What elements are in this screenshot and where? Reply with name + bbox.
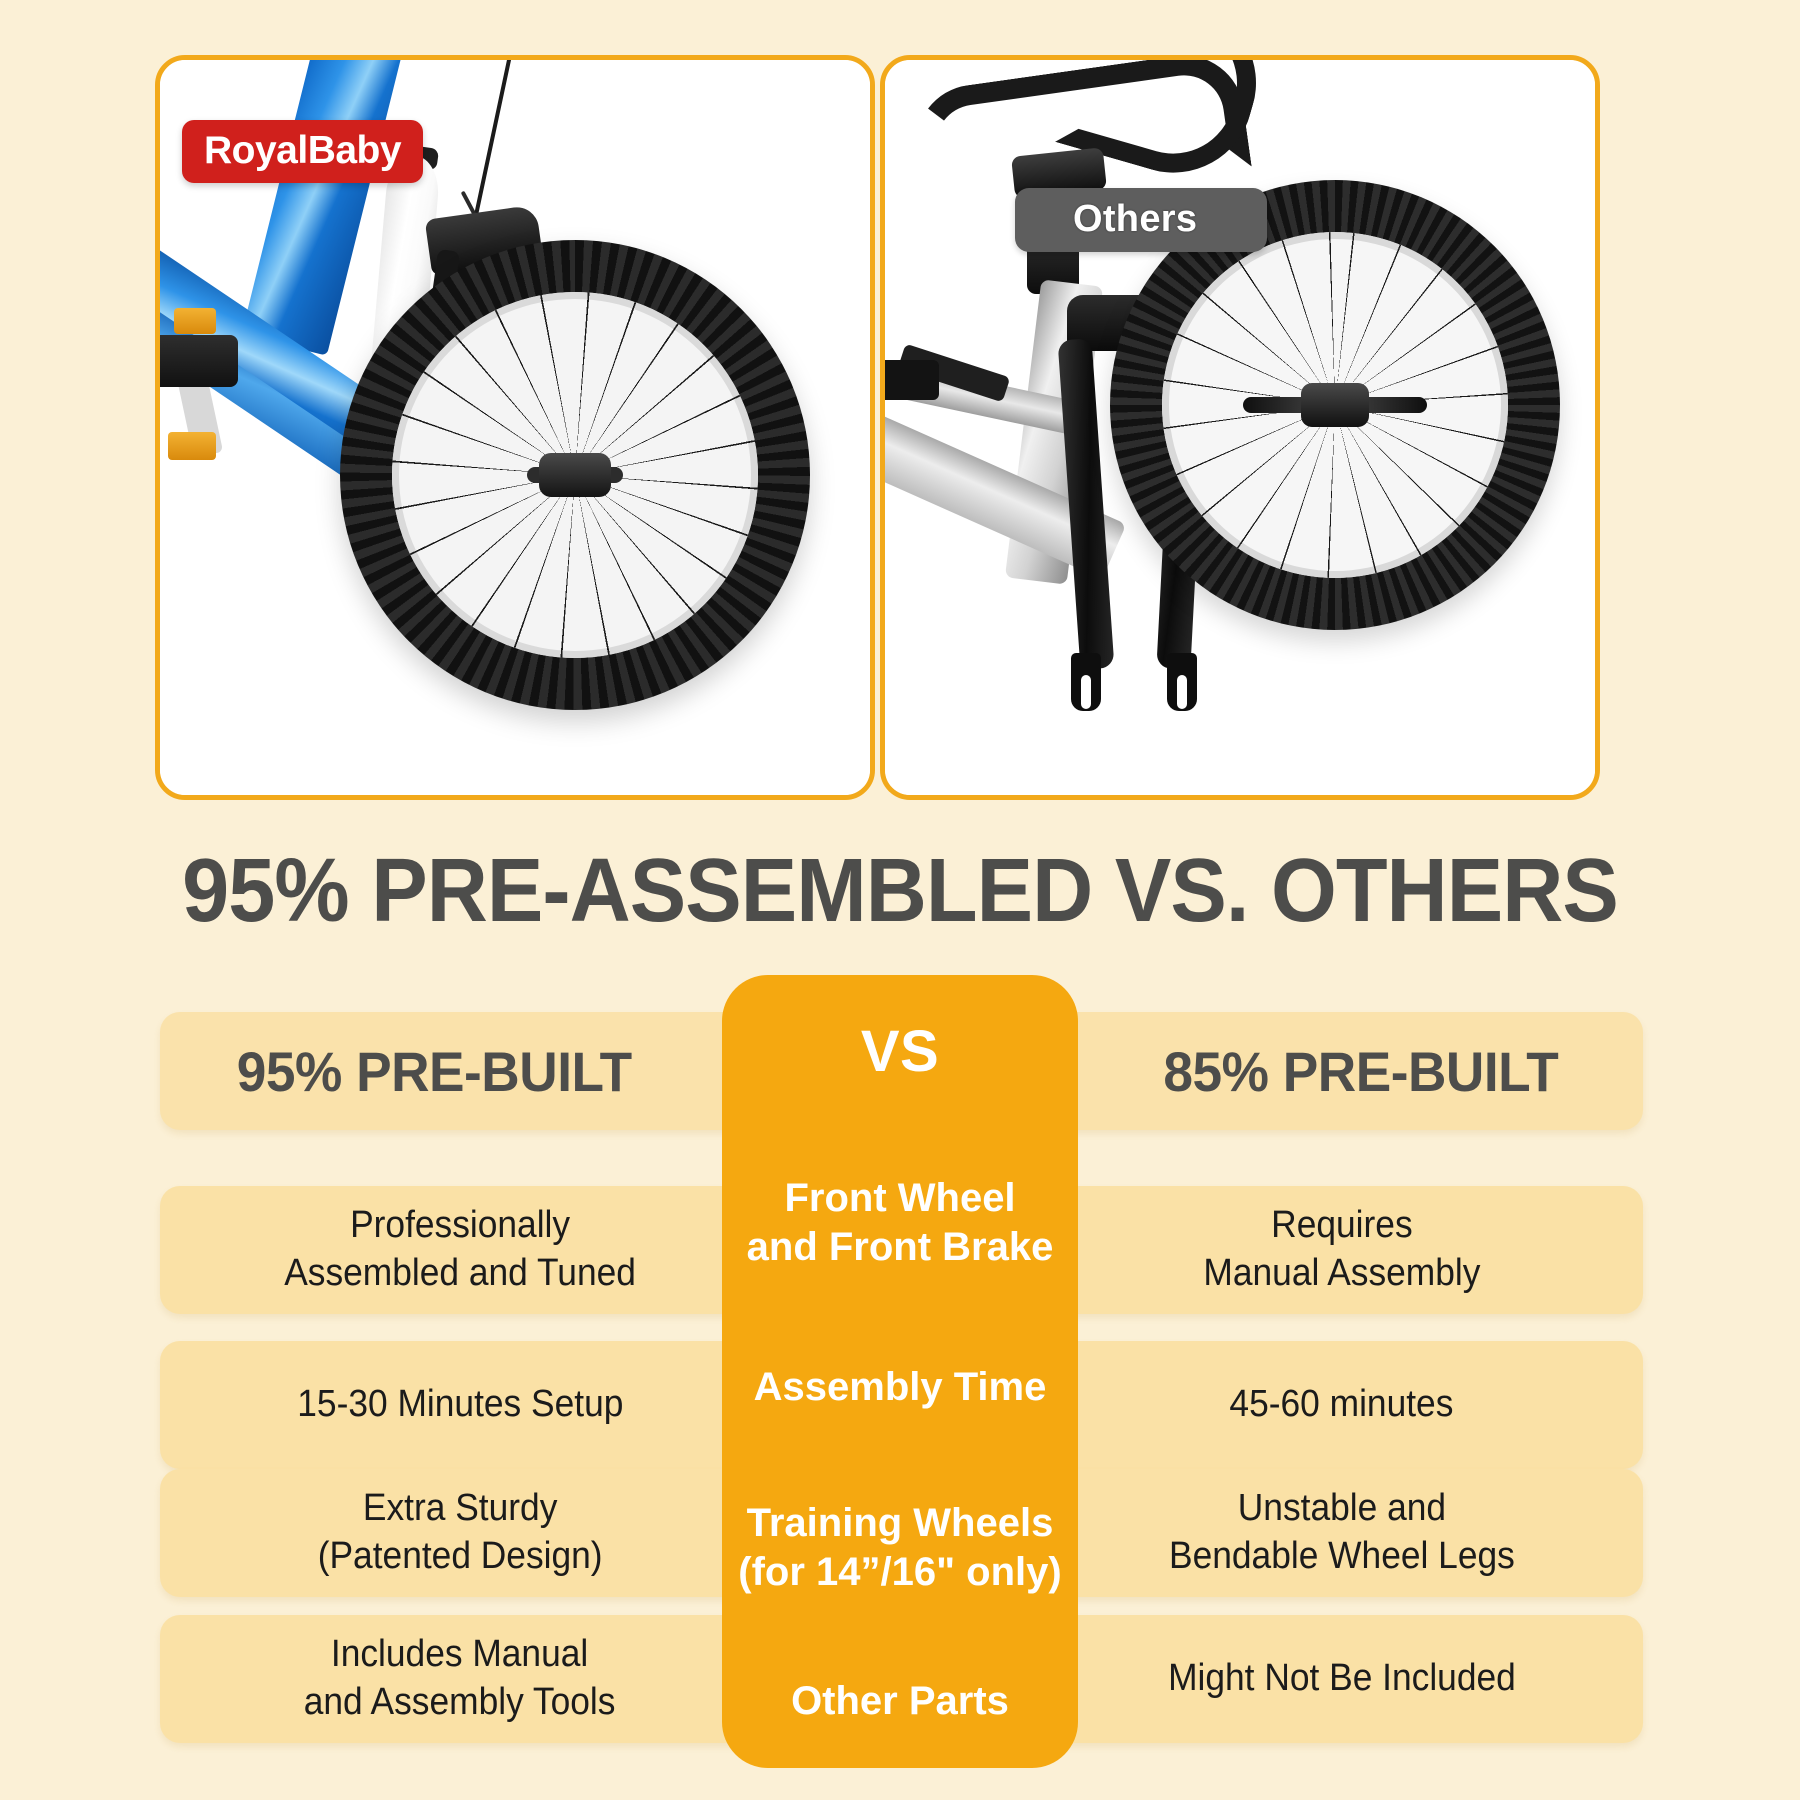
column-header-others-label: 85% PRE-BUILT xyxy=(1125,1039,1558,1104)
row-right-0-text: Requires Manual Assembly xyxy=(1203,1202,1480,1298)
row-left-3-line2: and Assembly Tools xyxy=(304,1681,616,1723)
row-right-2-text: Unstable and Bendable Wheel Legs xyxy=(1169,1485,1515,1581)
row-right-1-line1: 45-60 minutes xyxy=(1230,1383,1454,1425)
royalbaby-logo-badge: RoyalBaby xyxy=(182,120,423,183)
feature-label-1-line1: Assembly Time xyxy=(754,1365,1047,1409)
feature-label-2: Training Wheels (for 14”/16" only) xyxy=(722,1460,1078,1635)
row-left-1-text: 15-30 Minutes Setup xyxy=(297,1381,623,1429)
row-left-3-line1: Includes Manual xyxy=(331,1633,588,1675)
feature-label-2-line1: Training Wheels xyxy=(747,1501,1054,1545)
row-left-0-line1: Professionally xyxy=(350,1204,570,1246)
row-left-0-text: Professionally Assembled and Tuned xyxy=(284,1202,636,1298)
row-right-0-line1: Requires xyxy=(1271,1204,1412,1246)
feature-label-0-line1: Front Wheel xyxy=(784,1176,1015,1220)
row-left-1: 15-30 Minutes Setup xyxy=(160,1341,760,1469)
feature-label-3: Other Parts xyxy=(722,1635,1078,1768)
feature-label-0-line2: and Front Brake xyxy=(747,1225,1054,1269)
feature-label-1: Assembly Time xyxy=(722,1315,1078,1460)
feature-label-0: Front Wheel and Front Brake xyxy=(722,1130,1078,1315)
feature-label-3-line1: Other Parts xyxy=(791,1679,1009,1723)
row-right-0: Requires Manual Assembly xyxy=(1040,1186,1643,1314)
row-right-1: 45-60 minutes xyxy=(1040,1341,1643,1469)
row-right-2-line1: Unstable and xyxy=(1237,1487,1445,1529)
column-header-others: 85% PRE-BUILT xyxy=(1040,1012,1643,1130)
royalbaby-logo-text: RoyalBaby xyxy=(204,131,401,170)
row-right-0-line2: Manual Assembly xyxy=(1203,1252,1480,1294)
row-right-3-line1: Might Not Be Included xyxy=(1168,1657,1516,1699)
row-left-2-text: Extra Sturdy (Patented Design) xyxy=(318,1485,603,1581)
feature-label-2-line2: (for 14”/16" only) xyxy=(738,1550,1061,1594)
row-left-0: Professionally Assembled and Tuned xyxy=(160,1186,760,1314)
row-left-2-line1: Extra Sturdy xyxy=(363,1487,557,1529)
row-left-3-text: Includes Manual and Assembly Tools xyxy=(304,1631,616,1727)
vs-center-column: VS Front Wheel and Front Brake Assembly … xyxy=(722,975,1078,1768)
others-logo-badge: Others xyxy=(1015,188,1267,252)
row-left-2: Extra Sturdy (Patented Design) xyxy=(160,1469,760,1597)
infographic-page: RoyalBaby xyxy=(0,0,1800,1800)
row-right-2: Unstable and Bendable Wheel Legs xyxy=(1040,1469,1643,1597)
comparison-table: 95% PRE-BUILT 85% PRE-BUILT Professional… xyxy=(0,0,1800,1800)
row-left-0-line2: Assembled and Tuned xyxy=(284,1252,636,1294)
row-left-1-line1: 15-30 Minutes Setup xyxy=(297,1383,623,1425)
row-left-3: Includes Manual and Assembly Tools xyxy=(160,1615,760,1743)
row-right-3: Might Not Be Included xyxy=(1040,1615,1643,1743)
others-logo-text: Others xyxy=(1073,200,1197,238)
column-header-royalbaby-label: 95% PRE-BUILT xyxy=(237,1039,683,1104)
row-right-2-line2: Bendable Wheel Legs xyxy=(1169,1535,1515,1577)
row-right-3-text: Might Not Be Included xyxy=(1168,1655,1516,1703)
column-header-royalbaby: 95% PRE-BUILT xyxy=(160,1012,760,1130)
row-right-1-text: 45-60 minutes xyxy=(1230,1381,1454,1429)
vs-label: VS xyxy=(722,975,1078,1130)
row-left-2-line2: (Patented Design) xyxy=(318,1535,603,1577)
